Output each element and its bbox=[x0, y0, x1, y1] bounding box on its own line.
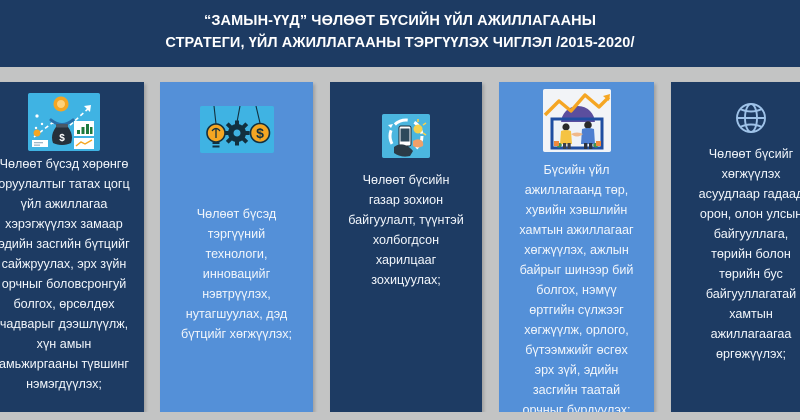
strategy-card-3-text: Чөлөөт бүсийн газар зохион байгуулалт, т… bbox=[334, 170, 478, 290]
strategy-card-row: $ bbox=[0, 82, 800, 412]
innovation-bulb-gear-coin-icon: $ bbox=[200, 106, 274, 153]
header-banner: “ЗАМЫН-ҮҮД” ЧӨЛӨӨТ БҮСИЙН ҮЙЛ АЖИЛЛАГААН… bbox=[0, 0, 800, 67]
handshake-partnership-icon bbox=[543, 89, 611, 152]
mobile-hand-network-icon bbox=[382, 114, 430, 158]
strategy-card-5[interactable]: Чөлөөт бүсийг хөгжүүлэх асуудлаар гадаад… bbox=[671, 82, 800, 412]
strategy-card-3[interactable]: Чөлөөт бүсийн газар зохион байгуулалт, т… bbox=[330, 82, 482, 412]
strategy-card-4-text: Бүсийн үйл ажиллагаанд төр, хувийн хэвшл… bbox=[503, 160, 650, 420]
strategy-card-4[interactable]: Бүсийн үйл ажиллагаанд төр, хувийн хэвшл… bbox=[499, 82, 654, 412]
page-title: “ЗАМЫН-ҮҮД” ЧӨЛӨӨТ БҮСИЙН ҮЙЛ АЖИЛЛАГААН… bbox=[0, 10, 800, 54]
bottom-divider bbox=[0, 412, 800, 420]
strategy-card-1[interactable]: $ bbox=[0, 82, 144, 412]
header-divider bbox=[0, 67, 800, 82]
svg-text:$: $ bbox=[256, 125, 264, 141]
strategy-card-2-text: Чөлөөт бүсэд тэргүүний технологи, иннова… bbox=[164, 204, 309, 344]
slide-canvas: “ЗАМЫН-ҮҮД” ЧӨЛӨӨТ БҮСИЙН ҮЙЛ АЖИЛЛАГААН… bbox=[0, 0, 800, 420]
svg-text:$: $ bbox=[59, 133, 65, 144]
strategy-card-1-text: Чөлөөт бүсэд хөрөнгө оруулалтыг татах цо… bbox=[0, 154, 140, 394]
strategy-card-2[interactable]: $ Чөлөөт бүсэд тэргүүний технологи, инно… bbox=[160, 82, 313, 412]
globe-icon bbox=[731, 98, 771, 138]
strategy-card-5-text: Чөлөөт бүсийг хөгжүүлэх асуудлаар гадаад… bbox=[675, 144, 800, 364]
investment-growth-icon: $ bbox=[28, 93, 100, 151]
